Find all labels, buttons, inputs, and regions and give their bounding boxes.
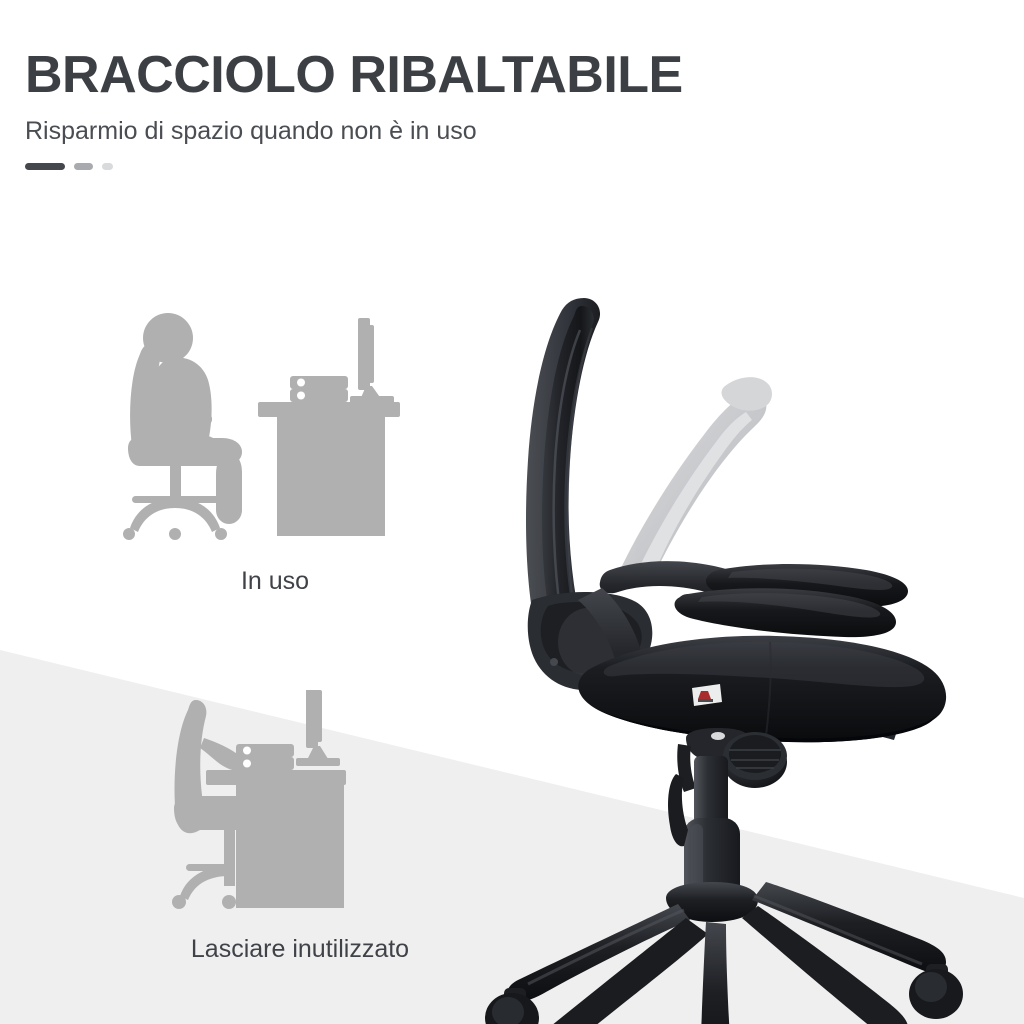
chair-backrest <box>526 298 600 628</box>
pictogram-in-use: In uso <box>110 298 440 596</box>
caster-right-rear <box>909 964 963 1019</box>
person-at-desk-icon <box>110 298 440 548</box>
page-title: BRACCIOLO RIBALTABILE <box>25 48 683 103</box>
pictogram-in-use-caption: In uso <box>110 567 440 596</box>
dash-faint <box>102 163 113 170</box>
armrest-up-ghost <box>620 377 772 584</box>
dash-active <box>25 163 65 170</box>
pictogram-not-in-use-caption: Lasciare inutilizzato <box>150 935 450 964</box>
seat-cushion <box>578 636 946 742</box>
pictogram-not-in-use: Lasciare inutilizzato <box>150 690 450 964</box>
header: BRACCIOLO RIBALTABILE Risparmio di spazi… <box>25 48 683 170</box>
office-chair-side-view <box>470 270 1024 1024</box>
tilt-tension-knob[interactable] <box>723 732 787 788</box>
dash-medium <box>74 163 93 170</box>
empty-chair-under-desk-icon <box>150 690 450 920</box>
page-subtitle: Risparmio di spazio quando non è in uso <box>25 116 683 146</box>
progress-dash-indicator <box>25 163 683 170</box>
product-feature-banner: BRACCIOLO RIBALTABILE Risparmio di spazi… <box>0 0 1024 1024</box>
chair-base <box>507 882 946 1024</box>
